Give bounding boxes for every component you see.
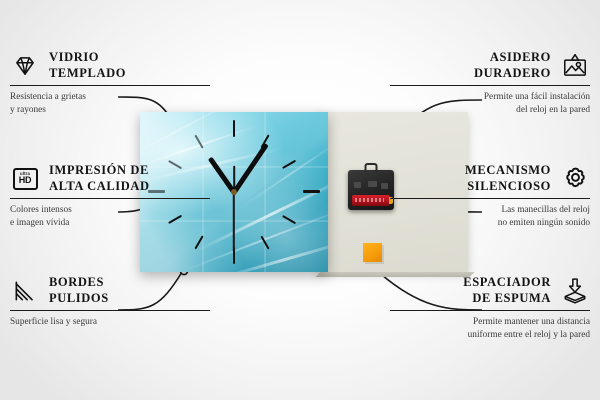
- divider: [390, 198, 590, 199]
- infographic-stage: VIDRIO TEMPLADO Resistencia a grietas y …: [0, 0, 600, 400]
- title-line-1: MECANISMO: [465, 163, 551, 179]
- movement-detail: [381, 183, 388, 189]
- callout-espaciador-de-espuma: ESPACIADOR DE ESPUMA Permite mantener un…: [390, 275, 590, 341]
- feather-streak: [213, 237, 328, 272]
- callout-title: ESPACIADOR DE ESPUMA: [463, 275, 551, 306]
- callout-title: MECANISMO SILENCIOSO: [465, 163, 551, 194]
- title-line-1: BORDES: [49, 275, 109, 291]
- callout-subtitle: Permite una fácil instalación del reloj …: [390, 91, 590, 116]
- divider: [10, 85, 210, 86]
- divider: [390, 85, 590, 86]
- hd-badge: ultra HD: [13, 168, 38, 190]
- sub-line-2: no emiten ningún sonido: [390, 217, 590, 229]
- hour-marker-3: [303, 190, 320, 193]
- sub-line-1: Permite mantener una distancia: [390, 316, 590, 328]
- hd-badge-main: HD: [19, 176, 32, 185]
- sub-line-2: uniforme entre el reloj y la pared: [390, 329, 590, 341]
- callout-subtitle: Colores intensos e imagen vívida: [10, 204, 210, 229]
- battery-label: [355, 198, 384, 202]
- callout-title: IMPRESIÓN DE ALTA CALIDAD: [49, 163, 150, 194]
- callout-bordes-pulidos: BORDES PULIDOS Superficie lisa y segura: [10, 275, 210, 329]
- callout-header: ESPACIADOR DE ESPUMA: [390, 275, 590, 306]
- sub-line-2: y rayones: [10, 104, 210, 116]
- title-line-2: PULIDOS: [49, 291, 109, 307]
- callout-title: ASIDERO DURADERO: [474, 50, 551, 81]
- callout-header: ASIDERO DURADERO: [390, 50, 590, 81]
- title-line-1: IMPRESIÓN DE: [49, 163, 150, 179]
- feather-streak: [242, 139, 328, 208]
- callout-asidero-duradero: ASIDERO DURADERO Permite una fácil insta…: [390, 50, 590, 116]
- sub-line-1: Superficie lisa y segura: [10, 316, 210, 328]
- title-line-2: DURADERO: [474, 66, 551, 82]
- callout-header: BORDES PULIDOS: [10, 275, 210, 306]
- callout-title: VIDRIO TEMPLADO: [49, 50, 126, 81]
- diamond-icon: [10, 51, 40, 81]
- hour-marker-12: [233, 120, 235, 137]
- movement-detail: [354, 182, 361, 188]
- movement-detail: [368, 181, 377, 187]
- ultra-hd-badge-icon: ultra HD: [10, 164, 40, 194]
- glass-reflection: [264, 112, 266, 272]
- clock-hand-second-lower: [233, 192, 235, 252]
- clock-hand-minute: [232, 143, 268, 194]
- callout-subtitle: Resistencia a grietas y rayones: [10, 91, 210, 116]
- title-line-2: ALTA CALIDAD: [49, 179, 150, 195]
- battery: [352, 195, 390, 206]
- callout-title: BORDES PULIDOS: [49, 275, 109, 306]
- polished-edges-icon: [10, 276, 40, 306]
- foam-spacer-pad: [363, 243, 382, 262]
- callout-header: MECANISMO SILENCIOSO: [390, 163, 590, 194]
- title-line-1: ESPACIADOR: [463, 275, 551, 291]
- divider: [10, 310, 210, 311]
- title-line-2: SILENCIOSO: [465, 179, 551, 195]
- callout-subtitle: Las manecillas del reloj no emiten ningú…: [390, 204, 590, 229]
- title-line-1: ASIDERO: [474, 50, 551, 66]
- callout-subtitle: Superficie lisa y segura: [10, 316, 210, 328]
- title-line-2: TEMPLADO: [49, 66, 126, 82]
- callout-impresion-alta-calidad: ultra HD IMPRESIÓN DE ALTA CALIDAD Color…: [10, 163, 210, 229]
- divider: [10, 198, 210, 199]
- hour-marker-2: [282, 160, 296, 170]
- callout-header: VIDRIO TEMPLADO: [10, 50, 210, 81]
- callout-subtitle: Permite mantener una distancia uniforme …: [390, 316, 590, 341]
- callout-mecanismo-silencioso: MECANISMO SILENCIOSO Las manecillas del …: [390, 163, 590, 229]
- sub-line-2: del reloj en la pared: [390, 104, 590, 116]
- callout-vidrio-templado: VIDRIO TEMPLADO Resistencia a grietas y …: [10, 50, 210, 116]
- title-line-2: DE ESPUMA: [463, 291, 551, 307]
- picture-hanger-icon: [560, 51, 590, 81]
- clock-hand-cap: [231, 189, 237, 195]
- callout-header: ultra HD IMPRESIÓN DE ALTA CALIDAD: [10, 163, 210, 194]
- gear-icon: [560, 164, 590, 194]
- sub-line-1: Colores intensos: [10, 204, 210, 216]
- clock-movement: [348, 170, 394, 210]
- sub-line-2: e imagen vívida: [10, 217, 210, 229]
- foam-spacer-icon: [560, 276, 590, 306]
- title-line-1: VIDRIO: [49, 50, 126, 66]
- movement-hook-icon: [365, 163, 378, 172]
- sub-line-1: Resistencia a grietas: [10, 91, 210, 103]
- sub-line-1: Permite una fácil instalación: [390, 91, 590, 103]
- divider: [390, 310, 590, 311]
- sub-line-1: Las manecillas del reloj: [390, 204, 590, 216]
